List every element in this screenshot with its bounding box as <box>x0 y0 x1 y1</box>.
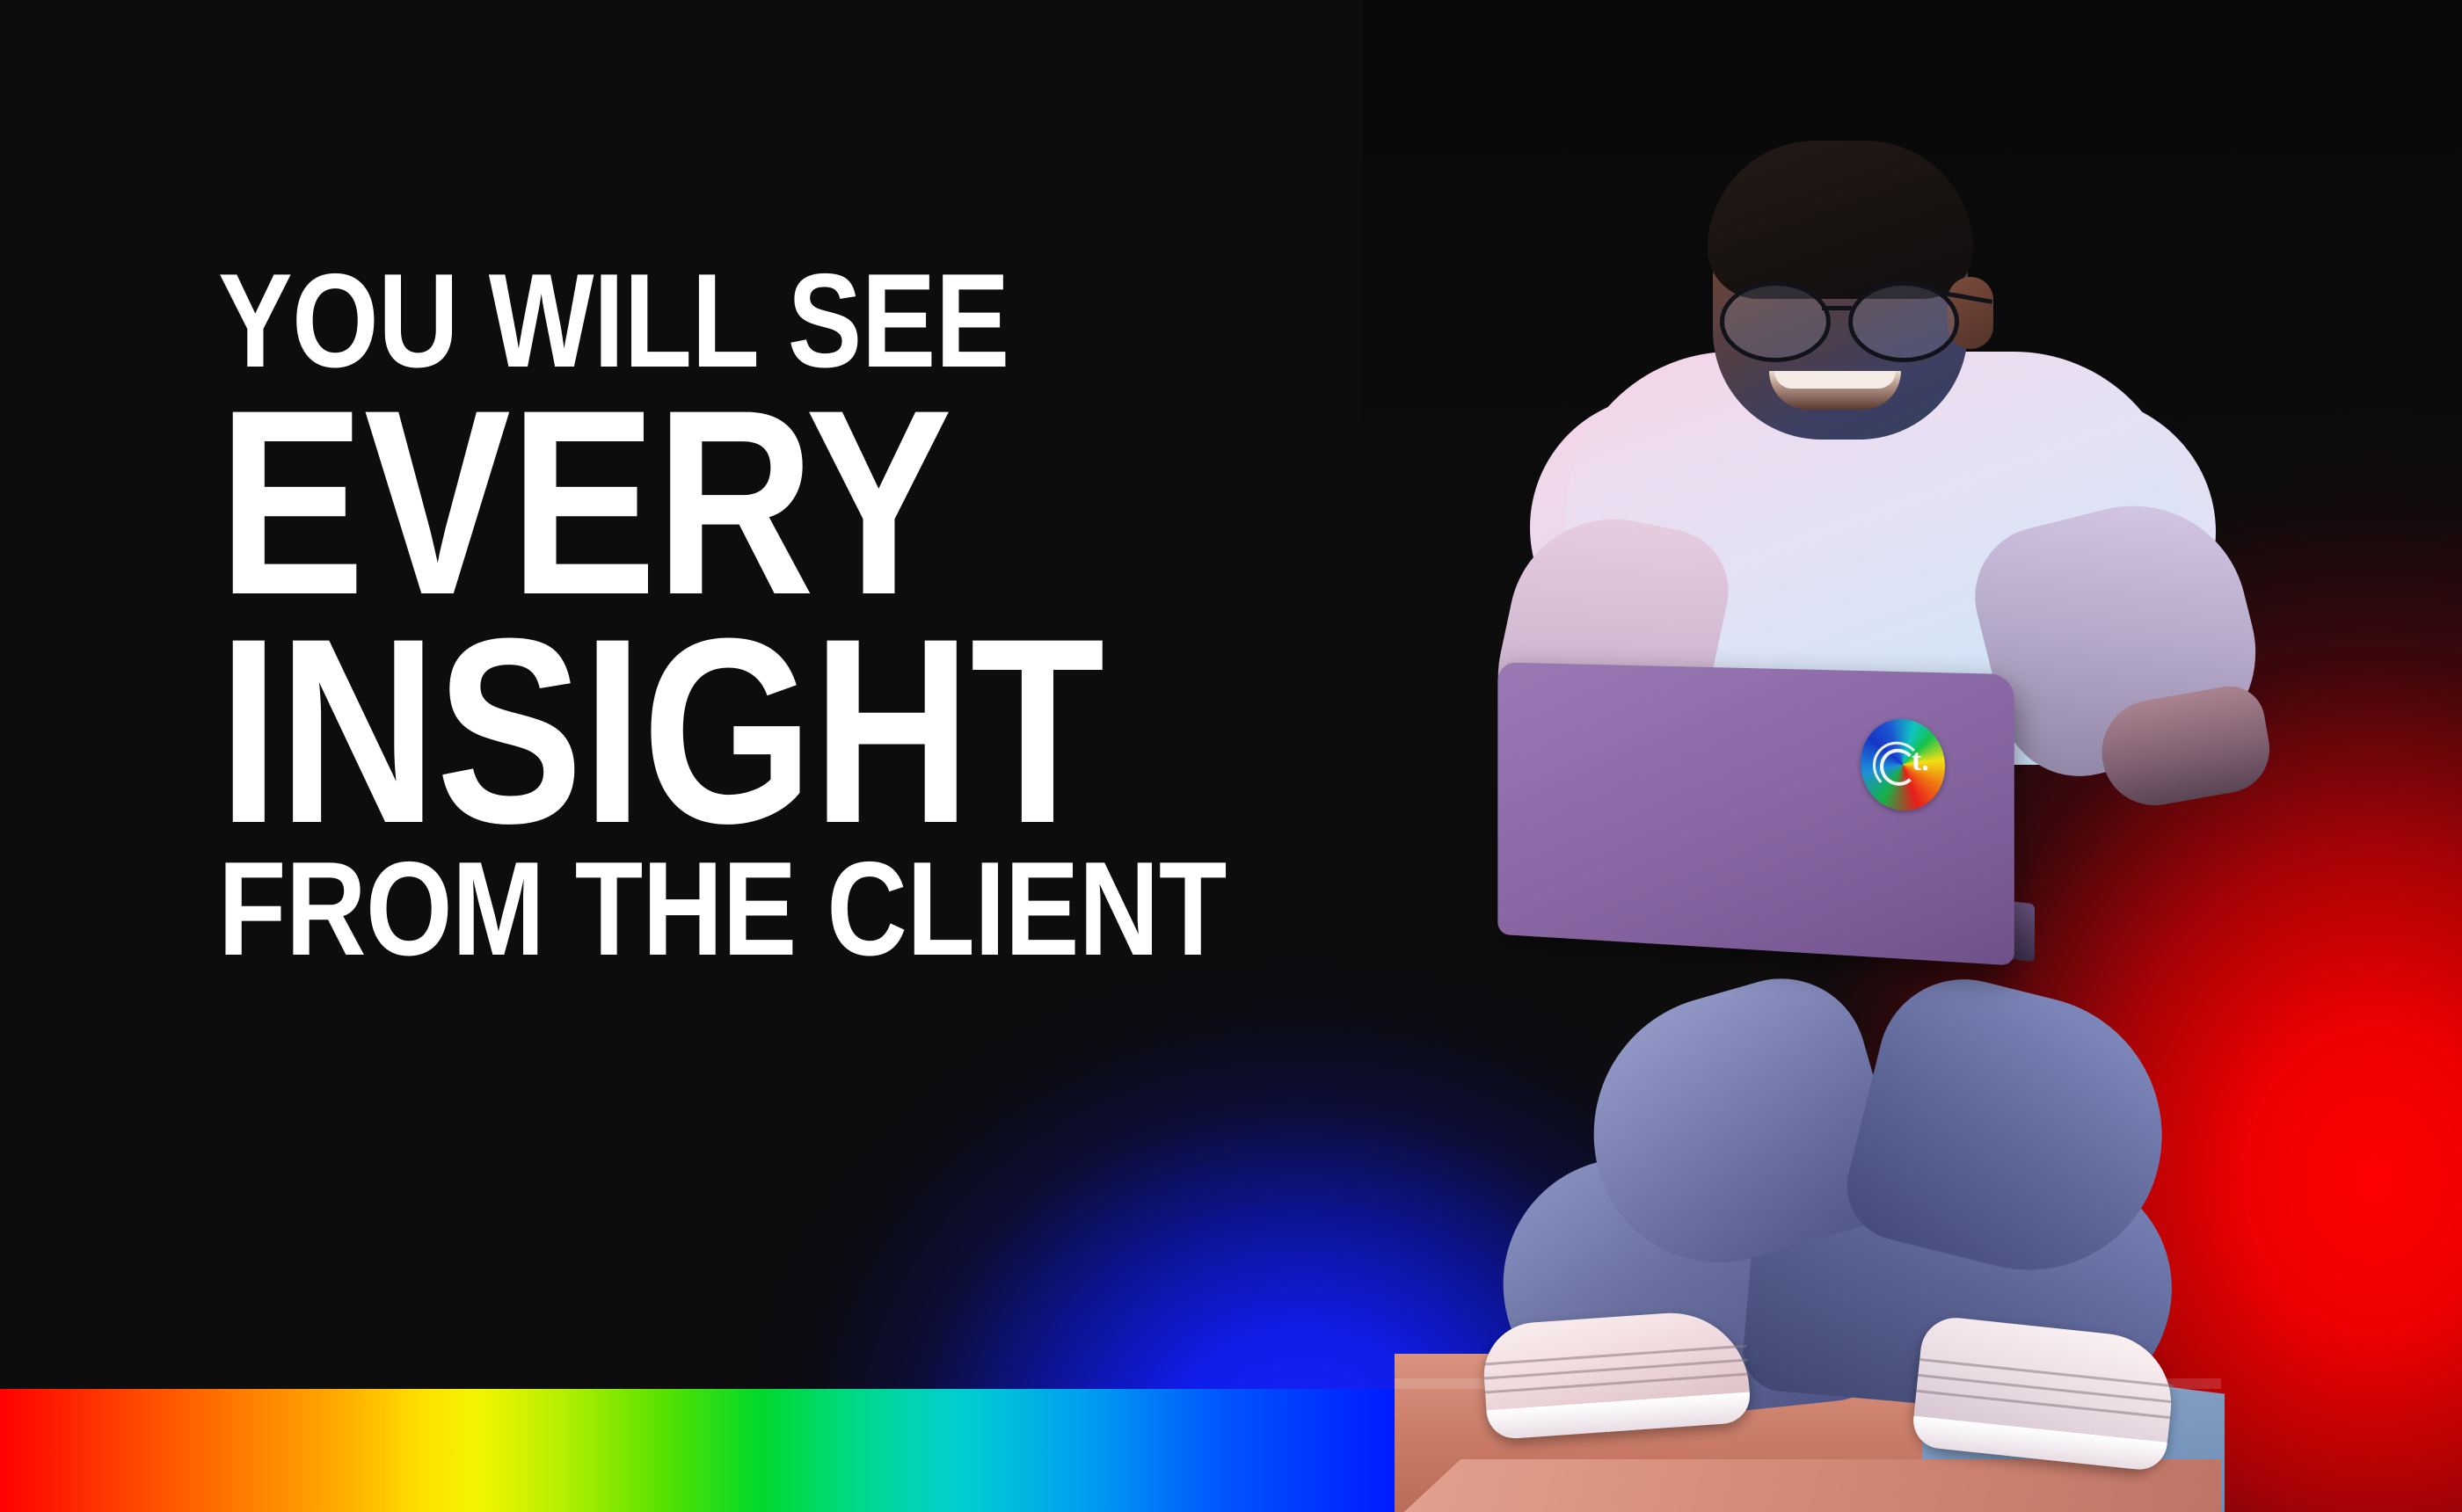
logo-wordmark: t. <box>1912 745 1929 776</box>
hair <box>1708 141 1973 299</box>
rainbow-gradient-bar <box>0 1389 1407 1512</box>
sneaker-lace <box>1918 1374 2172 1403</box>
poster-canvas: YOU WILL SEE EVERY INSIGHT FROM THE CLIE… <box>0 0 2462 1512</box>
headline-line-2: EVERY <box>218 391 1227 613</box>
laptop-lid <box>1497 662 2014 965</box>
headline-line-3: INSIGHT <box>218 620 1227 841</box>
eyeglass-bridge <box>1822 306 1852 310</box>
subject-figure: t. <box>1372 132 2383 1512</box>
laptop: t. <box>1488 668 2007 949</box>
headline-block: YOU WILL SEE EVERY INSIGHT FROM THE CLIE… <box>218 264 1425 966</box>
eyeglass-lens-left <box>1720 281 1831 362</box>
pedestal-top <box>1395 1459 2221 1512</box>
sneaker-left <box>1481 1308 1752 1441</box>
teeth <box>1774 371 1896 389</box>
eyeglasses-icon <box>1716 281 1968 355</box>
eyeglass-lens-right <box>1848 281 1959 362</box>
sneaker-lace <box>1916 1390 2170 1419</box>
smile <box>1769 371 1901 410</box>
headline-line-4: FROM THE CLIENT <box>218 852 1227 967</box>
sneaker-lace <box>1919 1358 2174 1387</box>
